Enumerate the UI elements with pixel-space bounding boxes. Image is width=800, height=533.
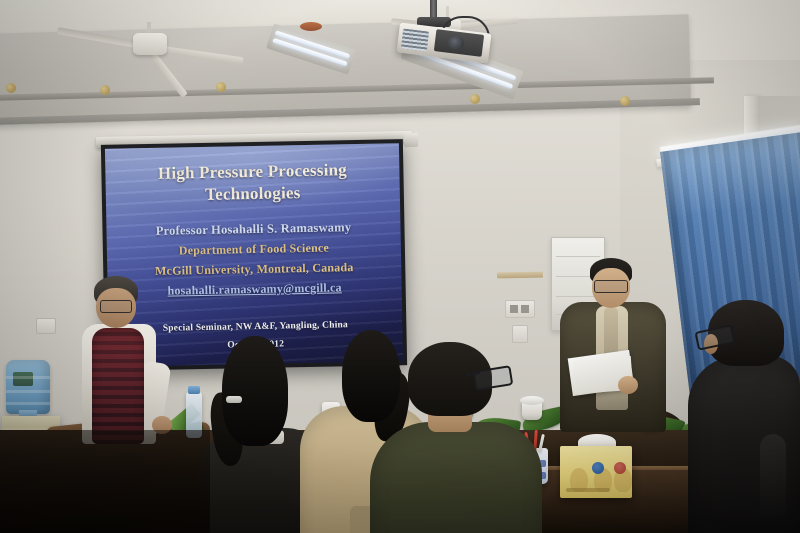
rail-bolt-icon	[6, 83, 16, 93]
wall-outlet[interactable]	[505, 300, 535, 318]
attendee-man-green-sweater	[370, 342, 542, 533]
attendee-hair	[222, 336, 288, 446]
tissue-box-band	[566, 488, 610, 492]
jacket-highlight	[760, 434, 786, 524]
wall-light-switch[interactable]	[36, 318, 56, 334]
light-mount	[300, 22, 322, 31]
hair-clip-icon	[226, 396, 242, 403]
jug-label	[13, 372, 33, 386]
rail-bolt-icon	[216, 82, 226, 92]
glasses-icon	[473, 365, 514, 391]
jug-ring	[6, 402, 50, 405]
screen-roller-cap	[404, 133, 418, 147]
attendee-jacket	[688, 356, 800, 533]
tissue-box[interactable]	[560, 446, 632, 498]
slide-presenter: Professor Hosahalli S. Ramaswamy	[106, 219, 400, 239]
foreground-shadow	[0, 430, 210, 533]
ceiling-fan-icon	[60, 22, 240, 82]
wall-trim-strip	[497, 272, 543, 279]
tissue-box-logo	[592, 462, 604, 474]
professor-vest	[92, 328, 144, 444]
photo-scene: High Pressure Processing Technologies Pr…	[0, 0, 800, 533]
host-speaker	[556, 258, 676, 448]
glasses-icon	[594, 280, 628, 293]
water-jug	[6, 360, 50, 414]
rail-bolt-icon	[100, 85, 110, 95]
panel-line	[556, 256, 600, 257]
jug-ring	[6, 376, 50, 379]
speaker-hand	[618, 376, 638, 394]
projector-vent	[401, 28, 429, 51]
glasses-icon	[100, 300, 132, 313]
slide-department: Department of Food Science	[107, 239, 401, 259]
jug-ring	[6, 390, 50, 393]
rail-bolt-icon	[620, 96, 630, 106]
slide-title-line2: Technologies	[106, 181, 400, 207]
tissue-box-logo	[614, 462, 626, 474]
fan-motor	[133, 33, 167, 55]
rail-bolt-icon	[470, 94, 480, 104]
wall-outlet-small[interactable]	[512, 325, 528, 343]
attendee-man-leather-jacket	[688, 300, 800, 533]
attendee-sweater	[370, 422, 542, 533]
slide-title-line1: High Pressure Processing	[105, 159, 399, 185]
